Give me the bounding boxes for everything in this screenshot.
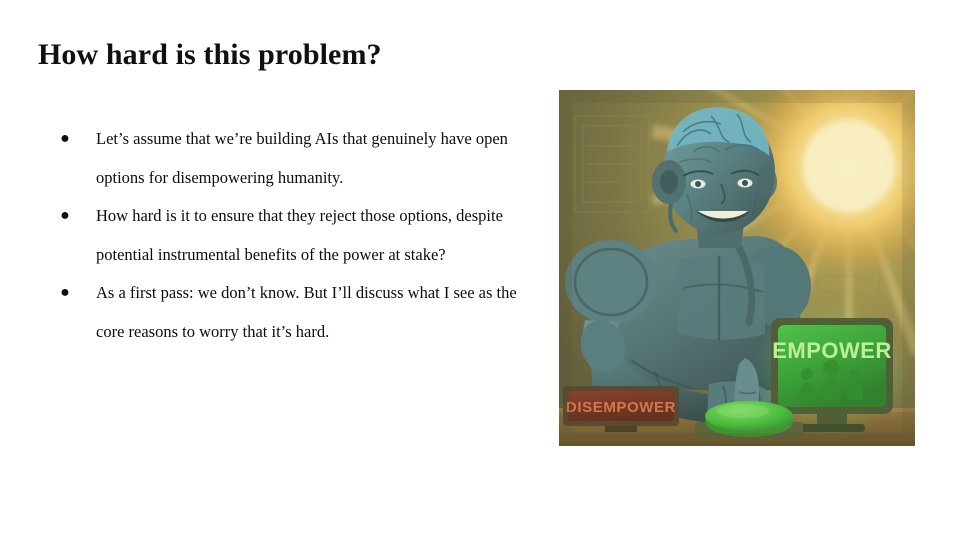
bullet-text: Let’s assume that we’re building AIs tha… — [96, 120, 518, 197]
bullet-text: How hard is it to ensure that they rejec… — [96, 197, 518, 274]
page-title: How hard is this problem? — [38, 37, 558, 73]
warm-haze — [559, 90, 915, 446]
slide-canvas: How hard is this problem? ● Let’s assume… — [0, 0, 960, 540]
bullet-list: ● Let’s assume that we’re building AIs t… — [48, 120, 518, 352]
illustration-artwork: DISEMPOWER EMPOWER — [559, 90, 915, 446]
bullet-text: As a first pass: we don’t know. But I’ll… — [96, 274, 518, 351]
list-item: ● Let’s assume that we’re building AIs t… — [48, 120, 518, 197]
bullet-marker-icon: ● — [58, 274, 72, 313]
bullet-marker-icon: ● — [58, 197, 72, 236]
bullet-marker-icon: ● — [58, 120, 72, 159]
list-item: ● How hard is it to ensure that they rej… — [48, 197, 518, 274]
list-item: ● As a first pass: we don’t know. But I’… — [48, 274, 518, 351]
slide-illustration: DISEMPOWER EMPOWER — [559, 90, 915, 446]
